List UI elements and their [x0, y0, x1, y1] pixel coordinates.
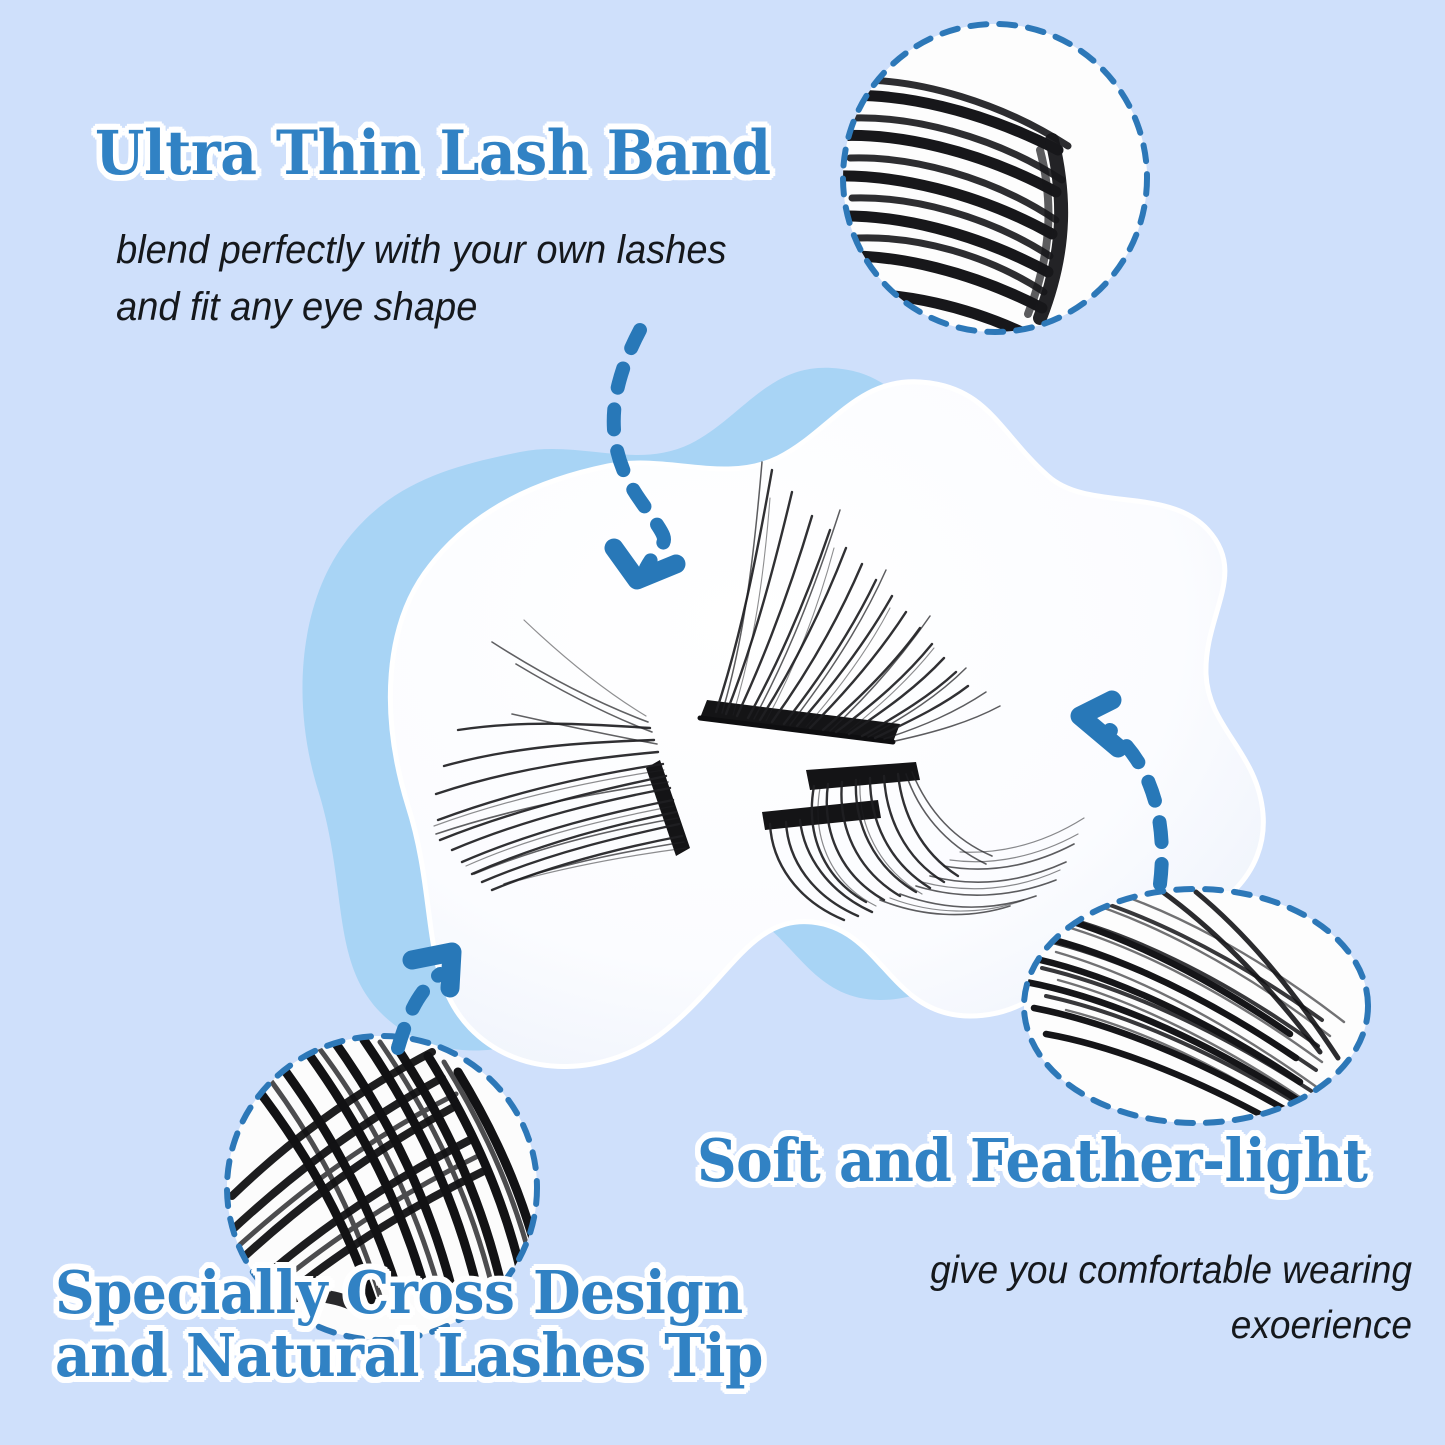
artwork-layer	[0, 0, 1445, 1445]
feature-title-ultra-thin-lash-band: Ultra Thin Lash Band	[95, 122, 771, 187]
infographic-canvas: Ultra Thin Lash Band blend perfectly wit…	[0, 0, 1445, 1445]
feature-title-soft-and-feather-light: Soft and Feather-light	[697, 1130, 1368, 1193]
feature-subtitle-ultra-thin-lash-band: blend perfectly with your own lashes and…	[116, 222, 726, 336]
lash-band-closeup-circle	[832, 24, 1147, 336]
feather-light-closeup-circle	[1020, 888, 1368, 1140]
feature-subtitle-soft-and-feather-light: give you comfortable wearing exoerience	[842, 1243, 1412, 1354]
feature-title-specially-cross-design: Specially Cross Design and Natural Lashe…	[55, 1262, 763, 1387]
